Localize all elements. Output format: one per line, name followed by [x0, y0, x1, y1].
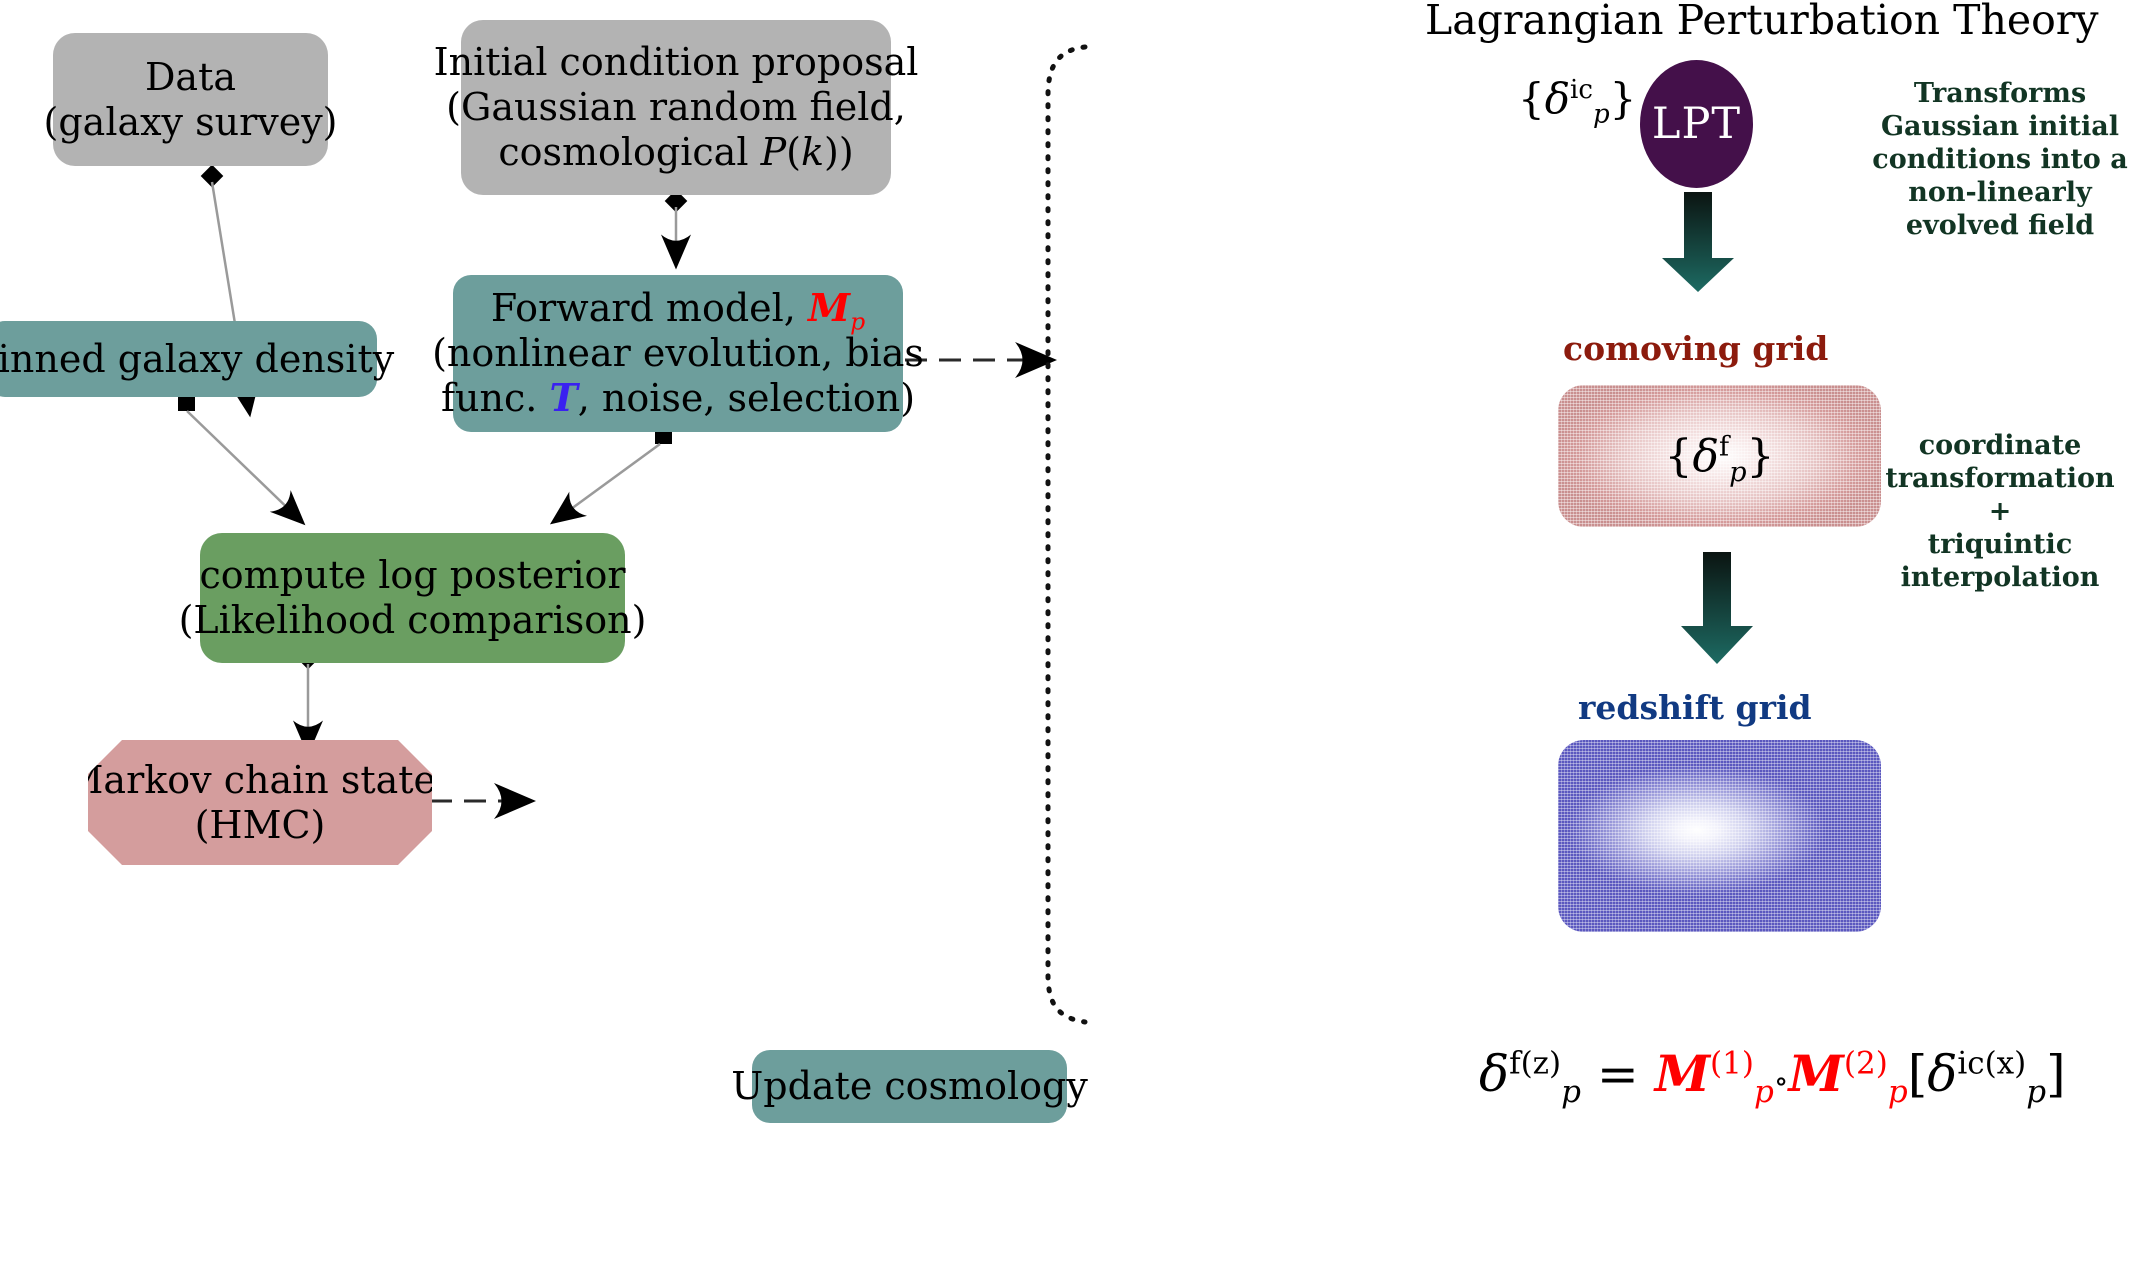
script-t-symbol: T	[549, 375, 577, 420]
compute-log-posterior-box[interactable]: compute log posterior (Likelihood compar…	[200, 533, 625, 663]
block-arrow-comoving-to-redshift	[1677, 552, 1757, 664]
formula-lhs-delta: δ	[1479, 1045, 1509, 1103]
formula-compose: ∘	[1774, 1064, 1789, 1099]
markov-chain-states-box[interactable]: Markov chain states (HMC)	[88, 740, 432, 865]
comoving-grid-label: comoving grid	[1563, 329, 1828, 368]
binned-galaxy-density-box[interactable]: Binned galaxy density	[0, 321, 377, 397]
formula-m2-sup: (2)	[1844, 1045, 1888, 1081]
formula-m1-sub: p	[1754, 1074, 1774, 1110]
formula-equals: =	[1597, 1045, 1639, 1103]
formula-m2: M	[1789, 1044, 1844, 1103]
annot-coord-line-3: +	[1855, 496, 2145, 529]
posterior-line-2: (Likelihood comparison)	[179, 598, 647, 643]
ic-box-line-3: cosmological P(k))	[498, 130, 853, 175]
forward-model-box[interactable]: Forward model, Mp (nonlinear evolution, …	[453, 275, 903, 432]
formula-open-bracket: [	[1908, 1045, 1928, 1103]
arrow-ic-to-forward-model	[665, 190, 688, 262]
forward-model-line-2: (nonlinear evolution, bias	[432, 331, 924, 376]
annot-coord-line-1: coordinate	[1855, 430, 2145, 463]
annotation-transforms: Transforms Gaussian initial conditions i…	[1855, 78, 2145, 243]
annot-coord-line-2: transformation	[1855, 463, 2145, 496]
lpt-node-label: LPT	[1652, 99, 1741, 149]
data-box[interactable]: Data (galaxy survey)	[53, 33, 328, 166]
initial-condition-box[interactable]: Initial condition proposal (Gaussian ran…	[461, 20, 891, 195]
formula-rhs-sup: ic(x)	[1957, 1045, 2026, 1081]
binned-box-label: Binned galaxy density	[0, 337, 394, 382]
posterior-line-1: compute log posterior	[199, 553, 625, 598]
forward-model-line-3: func. T, noise, selection)	[441, 376, 915, 421]
update-cosmology-box[interactable]: Update cosmology	[752, 1050, 1067, 1123]
lpt-node[interactable]: LPT	[1640, 60, 1753, 188]
forward-model-line-1: Forward model, Mp	[491, 286, 865, 331]
annot-transform-line-2: Gaussian initial	[1855, 111, 2145, 144]
ic-box-line-2: (Gaussian random field,	[446, 85, 906, 130]
formula-lhs-sub: p	[1561, 1074, 1581, 1110]
lpt-panel-bracket	[1048, 47, 1085, 1022]
diagram-canvas: Data (galaxy survey) Initial condition p…	[0, 0, 2145, 1273]
formula-rhs-delta: δ	[1927, 1045, 1957, 1103]
annot-transform-line-5: evolved field	[1855, 210, 2145, 243]
data-box-line-1: Data	[145, 55, 236, 100]
comoving-field-box[interactable]: {δfp}	[1558, 385, 1881, 527]
data-box-line-2: (galaxy survey)	[44, 100, 338, 145]
formula-lhs-sup: f(z)	[1509, 1045, 1561, 1081]
formula-rhs-sub: p	[2026, 1074, 2046, 1110]
annot-transform-line-4: non-linearly	[1855, 177, 2145, 210]
script-m-symbol: M	[808, 285, 850, 330]
block-arrow-lpt-to-comoving	[1658, 192, 1738, 292]
markov-line-1: Markov chain states	[65, 758, 456, 803]
comoving-field-label: {δfp}	[1664, 431, 1774, 482]
annot-transform-line-3: conditions into a	[1855, 144, 2145, 177]
formula-m1-sup: (1)	[1710, 1045, 1754, 1081]
markov-line-2: (HMC)	[195, 803, 326, 848]
annot-coord-line-4: triquintic	[1855, 529, 2145, 562]
lpt-formula: δf(z)p = M(1)p∘M(2)p[δic(x)p]	[1479, 1044, 2066, 1103]
formula-m1: M	[1655, 1044, 1710, 1103]
arrow-forward-model-to-posterior	[556, 427, 672, 520]
redshift-field-box[interactable]	[1558, 740, 1881, 932]
arrow-binned-to-posterior	[178, 394, 300, 520]
update-box-label: Update cosmology	[731, 1064, 1088, 1109]
annot-coord-line-5: interpolation	[1855, 562, 2145, 595]
annotation-coordinate: coordinate transformation + triquintic i…	[1855, 430, 2145, 595]
formula-m2-sub: p	[1888, 1074, 1908, 1110]
annot-transform-line-1: Transforms	[1855, 78, 2145, 111]
redshift-grid-label: redshift grid	[1578, 688, 1812, 727]
ic-field-set-label: {δicp}	[1518, 74, 1636, 123]
lpt-panel-title: Lagrangian Perturbation Theory	[1425, 0, 2099, 44]
formula-close-bracket: ]	[2046, 1045, 2066, 1103]
ic-box-line-1: Initial condition proposal	[434, 40, 919, 85]
